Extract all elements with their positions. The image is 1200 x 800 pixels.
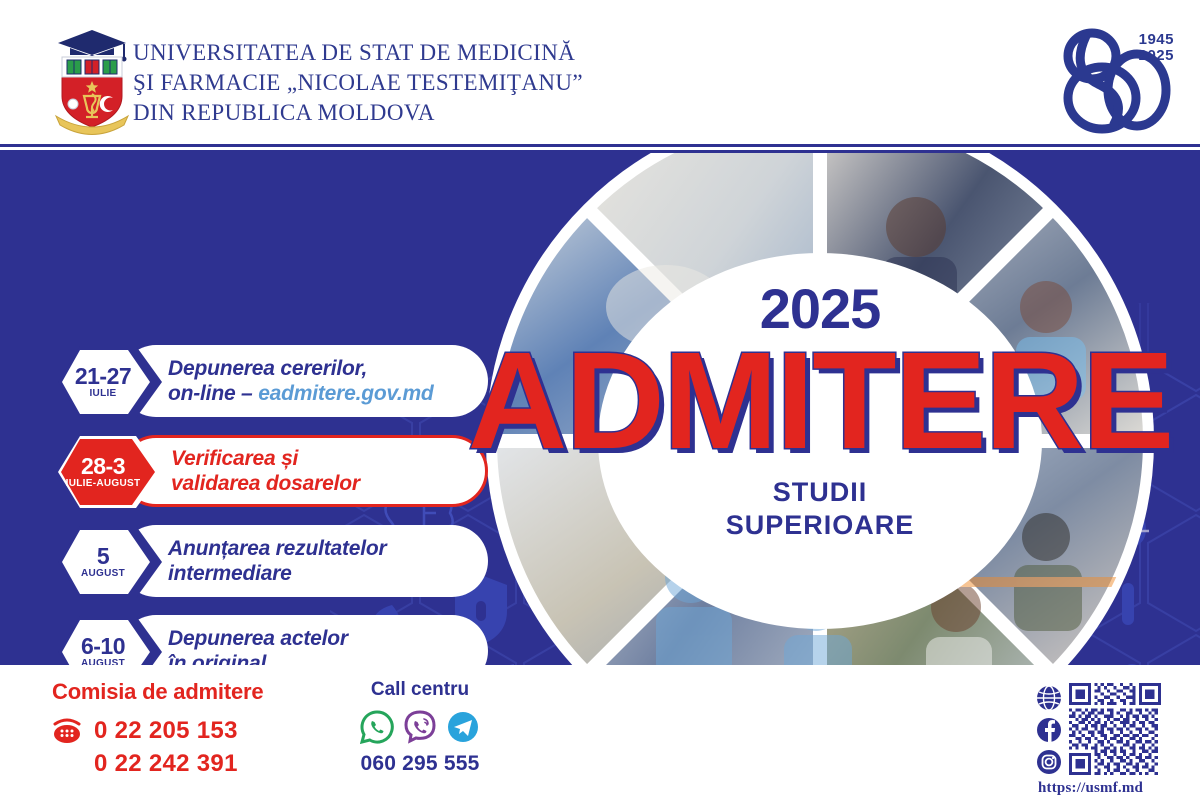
timeline-text-bar: Depunerea actelor în original (120, 615, 488, 665)
timeline-line-2: intermediare (168, 561, 474, 586)
timeline-text-bar: Depunerea cererilor, on-line – eadmitere… (120, 345, 488, 417)
timeline-link[interactable]: eadmitere.gov.md (258, 382, 433, 405)
date-badge: 6-10 AUGUST (58, 616, 162, 665)
anniversary-year-from: 1945 (1139, 32, 1174, 48)
header-divider (0, 144, 1200, 147)
date-month: AUGUST (81, 658, 125, 666)
timeline-line-2: validarea dosarelor (171, 471, 471, 496)
date-day: 21-27 (75, 365, 131, 388)
date-month: IULIE-AUGUST (66, 478, 141, 490)
poster-header: UNIVERSITATEA DE STAT DE MEDICINĂ ŞI FAR… (0, 0, 1200, 150)
date-month: IULIE (89, 388, 116, 400)
website-url[interactable]: https://usmf.md (1038, 780, 1186, 797)
date-day: 6-10 (81, 635, 125, 658)
admission-commission-block: Comisia de admitere 0 22 205 153 0 22 24… (52, 679, 263, 778)
admission-timeline: Depunerea cererilor, on-line – eadmitere… (58, 345, 488, 665)
telephone-icon (52, 718, 82, 744)
whatsapp-icon[interactable] (360, 710, 394, 744)
university-line-2: ŞI FARMACIE „NICOLAE TESTEMIŢANU” (133, 68, 733, 98)
instagram-icon[interactable] (1036, 749, 1062, 775)
facebook-icon[interactable] (1036, 717, 1062, 743)
messenger-icons (330, 710, 510, 744)
anniversary-years: 1945 2025 (1139, 32, 1174, 64)
viber-icon[interactable] (403, 710, 437, 744)
call-center-number[interactable]: 060 295 555 (330, 752, 510, 776)
timeline-row[interactable]: Depunerea actelor în original 6-10 AUGUS… (58, 615, 488, 665)
university-line-3: DIN REPUBLICA MOLDOVA (133, 98, 733, 128)
poster-footer: Comisia de admitere 0 22 205 153 0 22 24… (0, 665, 1200, 800)
timeline-row[interactable]: Anunțarea rezultatelor intermediare 5 AU… (58, 525, 488, 603)
date-badge-text: 6-10 AUGUST (58, 616, 162, 665)
timeline-text-bar: Anunțarea rezultatelor intermediare (120, 525, 488, 597)
telegram-icon[interactable] (446, 710, 480, 744)
admission-phone-2[interactable]: 0 22 242 391 (94, 750, 263, 778)
date-day: 28-3 (81, 455, 125, 478)
timeline-line-1: Anunțarea rezultatelor (168, 536, 474, 561)
date-month: AUGUST (81, 568, 125, 580)
admission-poster: UNIVERSITATEA DE STAT DE MEDICINĂ ŞI FAR… (0, 0, 1200, 800)
social-icons (1036, 683, 1062, 775)
admission-phone-1[interactable]: 0 22 205 153 (94, 717, 238, 745)
qr-row (1036, 683, 1186, 775)
anniversary-year-to: 2025 (1139, 48, 1174, 64)
page-title: UNIVERSITATEA DE STAT DE MEDICINĂ ŞI FAR… (133, 38, 733, 128)
timeline-row[interactable]: Depunerea cererilor, on-line – eadmitere… (58, 345, 488, 423)
anniversary-logo: 1945 2025 (1040, 24, 1180, 134)
university-line-1: UNIVERSITATEA DE STAT DE MEDICINĂ (133, 38, 733, 68)
date-badge: 5 AUGUST (58, 526, 162, 598)
date-day: 5 (97, 545, 109, 568)
call-center-block: Call centru 060 295 555 (330, 679, 510, 776)
timeline-line-2: în original (168, 651, 474, 665)
timeline-line-1: Depunerea actelor (168, 626, 474, 651)
qr-code[interactable] (1069, 683, 1161, 775)
timeline-text-bar: Verificarea și validarea dosarelor (120, 435, 488, 507)
timeline-line-2-prefix: on-line – (168, 382, 258, 405)
usmf-coat-of-arms-icon (50, 24, 134, 136)
admission-phone-row: 0 22 205 153 (52, 717, 263, 745)
main-navy-panel: Depunerea cererilor, on-line – eadmitere… (0, 150, 1200, 665)
date-badge-text: 28-3 IULIE-AUGUST (58, 436, 162, 508)
date-badge-text: 5 AUGUST (58, 526, 162, 598)
photo-collage-circle (486, 150, 1154, 665)
admission-commission-heading: Comisia de admitere (52, 679, 263, 705)
globe-icon[interactable] (1036, 685, 1062, 711)
timeline-line-1: Depunerea cererilor, (168, 356, 474, 381)
call-center-heading: Call centru (330, 679, 510, 701)
web-qr-block: https://usmf.md (1036, 683, 1186, 797)
timeline-line-1: Verificarea și (171, 446, 471, 471)
date-badge: 21-27 IULIE (58, 346, 162, 418)
timeline-line-2: on-line – eadmitere.gov.md (168, 381, 474, 406)
date-badge-text: 21-27 IULIE (58, 346, 162, 418)
timeline-row[interactable]: Verificarea și validarea dosarelor 28-3 … (58, 435, 488, 513)
date-badge: 28-3 IULIE-AUGUST (58, 436, 162, 508)
